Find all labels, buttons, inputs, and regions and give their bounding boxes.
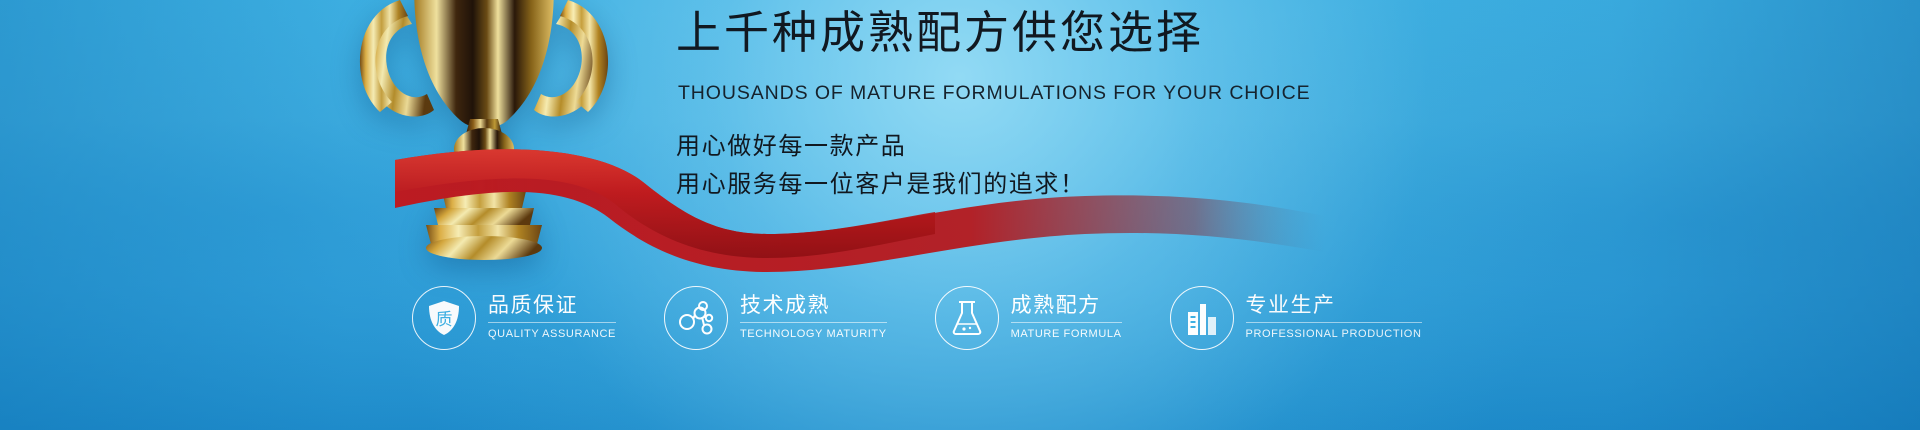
tagline-group: 用心做好每一款产品 用心服务每一位客户是我们的追求！ bbox=[676, 128, 1276, 204]
feature-title-cn: 品质保证 bbox=[488, 293, 616, 323]
feature-title-en: TECHNOLOGY MATURITY bbox=[740, 327, 887, 342]
promo-banner: 上千种成熟配方供您选择 THOUSANDS OF MATURE FORMULAT… bbox=[0, 0, 1920, 430]
tagline-line-2: 用心服务每一位客户是我们的追求！ bbox=[676, 166, 1276, 204]
svg-text:质: 质 bbox=[436, 310, 453, 329]
feature-label-group: 成熟配方 MATURE FORMULA bbox=[1011, 293, 1122, 344]
feature-label-group: 品质保证 QUALITY ASSURANCE bbox=[488, 293, 616, 344]
feature-label-group: 专业生产 PROFESSIONAL PRODUCTION bbox=[1246, 293, 1422, 344]
page-title: 上千种成熟配方供您选择 bbox=[676, 4, 1276, 62]
banner-text-block: 上千种成熟配方供您选择 THOUSANDS OF MATURE FORMULAT… bbox=[676, 4, 1276, 204]
feature-professional-production[interactable]: 专业生产 PROFESSIONAL PRODUCTION bbox=[1170, 286, 1422, 350]
feature-title-en: QUALITY ASSURANCE bbox=[488, 327, 616, 342]
page-subtitle: THOUSANDS OF MATURE FORMULATIONS FOR YOU… bbox=[678, 80, 1276, 106]
factory-building-icon bbox=[1170, 286, 1234, 350]
feature-label-group: 技术成熟 TECHNOLOGY MATURITY bbox=[740, 293, 887, 344]
feature-title-en: MATURE FORMULA bbox=[1011, 327, 1122, 342]
tagline-line-1: 用心做好每一款产品 bbox=[676, 128, 1276, 166]
feature-title-cn: 技术成熟 bbox=[740, 293, 887, 323]
shield-quality-icon: 质 bbox=[412, 286, 476, 350]
flask-icon bbox=[935, 286, 999, 350]
feature-badge-row: 质 品质保证 QUALITY ASSURANCE 技术成熟 bbox=[412, 278, 1222, 358]
molecule-icon bbox=[664, 286, 728, 350]
feature-title-cn: 成熟配方 bbox=[1011, 293, 1122, 323]
feature-mature-formula[interactable]: 成熟配方 MATURE FORMULA bbox=[935, 286, 1122, 350]
feature-title-cn: 专业生产 bbox=[1246, 293, 1422, 323]
feature-technology-maturity[interactable]: 技术成熟 TECHNOLOGY MATURITY bbox=[664, 286, 887, 350]
feature-title-en: PROFESSIONAL PRODUCTION bbox=[1246, 327, 1422, 342]
feature-quality-assurance[interactable]: 质 品质保证 QUALITY ASSURANCE bbox=[412, 286, 616, 350]
